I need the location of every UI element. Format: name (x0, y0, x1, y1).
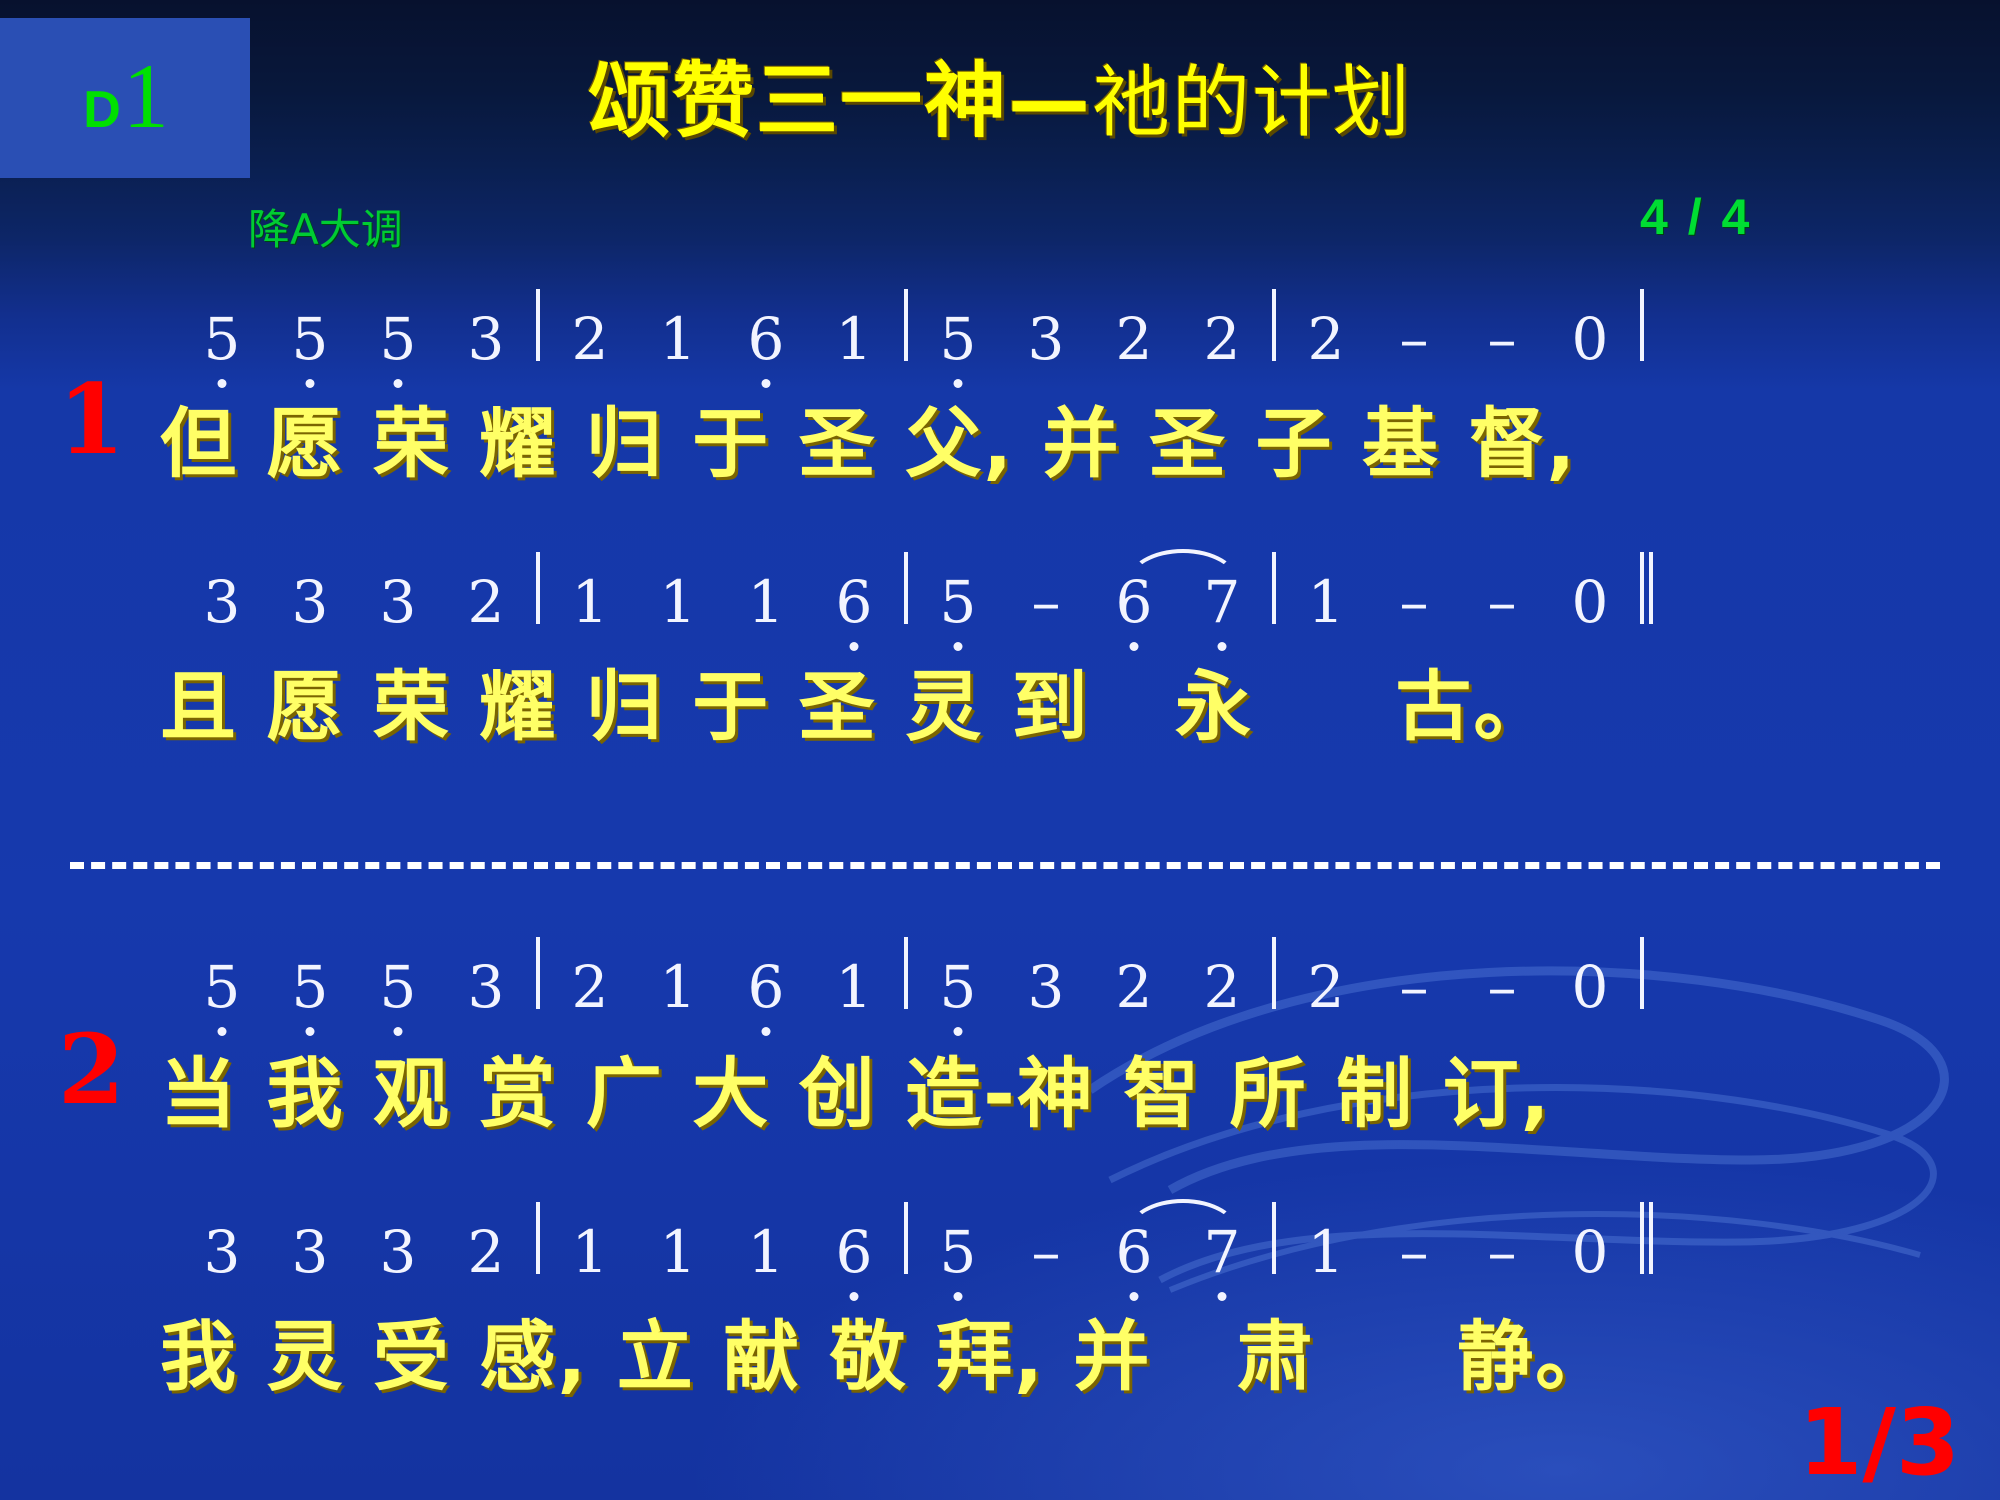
measure: 5322 (914, 310, 1266, 368)
notation-row: 333211165–671––0 (0, 545, 2000, 631)
note: 1 (546, 1223, 634, 1281)
barline (536, 289, 540, 361)
note: 3 (354, 573, 442, 631)
verse-2-lyric-1: 当 我 观 赏 广 大 创 造-神 智 所 制 订, (0, 1032, 2000, 1142)
final-barline (1640, 552, 1656, 624)
note: 6 (722, 958, 810, 1016)
note: 5 (914, 1223, 1002, 1281)
verse-2-lyric-2: 我 灵 受 感, 立 献 敬 拜, 并 肃 静。 (0, 1295, 2000, 1405)
note: 0 (1546, 958, 1634, 1016)
title-subtitle: 祂的计划 (1092, 58, 1412, 148)
slur-arc (1127, 549, 1239, 589)
note: 3 (442, 958, 530, 1016)
note: 5 (354, 958, 442, 1016)
notation-row: 5553216153222––0 (0, 930, 2000, 1016)
barline (1272, 1202, 1276, 1274)
note: 2 (1282, 310, 1370, 368)
measure: 3332 (178, 573, 530, 631)
note: 2 (1178, 310, 1266, 368)
note: – (1458, 958, 1546, 1016)
note: 3 (178, 573, 266, 631)
note: 5 (178, 958, 266, 1016)
verse-1-lyric-1: 但 愿 荣 耀 归 于 圣 父, 并 圣 子 基 督, (0, 382, 2000, 492)
note: 2 (546, 958, 634, 1016)
note: – (1002, 1223, 1090, 1281)
measure: 2161 (546, 310, 898, 368)
note: 2 (1090, 310, 1178, 368)
note: 6 (810, 573, 898, 631)
note: – (1370, 958, 1458, 1016)
barline (536, 937, 540, 1009)
measure: 2161 (546, 958, 898, 1016)
measure: 5553 (178, 310, 530, 368)
barline (536, 552, 540, 624)
note: – (1458, 573, 1546, 631)
note: – (1002, 573, 1090, 631)
verse-2-line-1: 5553216153222––0 (0, 930, 2000, 1016)
note: 1 (810, 310, 898, 368)
note: 1 (634, 1223, 722, 1281)
slide-canvas: D 1 颂赞三一神—祂的计划 降A大调 4 / 4 5553216153222–… (0, 0, 2000, 1500)
note: 5 (914, 310, 1002, 368)
time-signature: 4 / 4 (1640, 188, 1752, 246)
note: 1 (634, 573, 722, 631)
note: 3 (442, 310, 530, 368)
note: 5 (914, 573, 1002, 631)
slur-arc (1127, 1199, 1239, 1239)
barline (1272, 289, 1276, 361)
barline (1640, 937, 1644, 1009)
verse-1-line-2: 333211165–671––0 (0, 545, 2000, 631)
barline (904, 289, 908, 361)
notation-row: 333211165–671––0 (0, 1195, 2000, 1281)
note: 3 (266, 1223, 354, 1281)
measure: 1––0 (1282, 573, 1634, 631)
note: 1 (634, 310, 722, 368)
note: 5 (178, 310, 266, 368)
note: 0 (1546, 310, 1634, 368)
note: – (1458, 310, 1546, 368)
barline (904, 937, 908, 1009)
barline (904, 1202, 908, 1274)
measure: 2––0 (1282, 310, 1634, 368)
note: 0 (1546, 1223, 1634, 1281)
note: 5 (266, 310, 354, 368)
note: 2 (1090, 958, 1178, 1016)
note: 2 (1282, 958, 1370, 1016)
verse-separator (70, 862, 1940, 869)
page-number: 1/3 (1798, 1389, 1960, 1496)
page-title: 颂赞三一神—祂的计划 (0, 34, 2000, 153)
note: 3 (266, 573, 354, 631)
note: 1 (722, 573, 810, 631)
note: 2 (546, 310, 634, 368)
note: 6 (810, 1223, 898, 1281)
note: – (1370, 1223, 1458, 1281)
note: – (1458, 1223, 1546, 1281)
title-main: 颂赞三一神 (588, 54, 1008, 149)
note: – (1370, 310, 1458, 368)
measure: 1––0 (1282, 1223, 1634, 1281)
final-barline (1640, 1202, 1656, 1274)
measure: 5–67 (914, 1223, 1266, 1281)
measure: 5322 (914, 958, 1266, 1016)
barline (1272, 937, 1276, 1009)
note: 1 (722, 1223, 810, 1281)
note: 2 (442, 573, 530, 631)
note: 1 (634, 958, 722, 1016)
measure: 1116 (546, 573, 898, 631)
measure: 5553 (178, 958, 530, 1016)
title-dash: — (1008, 54, 1092, 149)
notation-row: 5553216153222––0 (0, 282, 2000, 368)
note: 3 (1002, 958, 1090, 1016)
note: 5 (354, 310, 442, 368)
measure: 2––0 (1282, 958, 1634, 1016)
note: 2 (1178, 958, 1266, 1016)
note: 1 (1282, 573, 1370, 631)
note: – (1370, 573, 1458, 631)
barline (1640, 289, 1644, 361)
note: 2 (442, 1223, 530, 1281)
barline (536, 1202, 540, 1274)
note: 1 (810, 958, 898, 1016)
note: 0 (1546, 573, 1634, 631)
note: 1 (1282, 1223, 1370, 1281)
note: 1 (546, 573, 634, 631)
note: 3 (1002, 310, 1090, 368)
measure: 5–67 (914, 573, 1266, 631)
barline (1272, 552, 1276, 624)
verse-1-lyric-2: 且 愿 荣 耀 归 于 圣 灵 到 永 古。 (0, 645, 2000, 755)
key-signature: 降A大调 (248, 196, 403, 257)
verse-2-line-2: 333211165–671––0 (0, 1195, 2000, 1281)
note: 5 (266, 958, 354, 1016)
note: 3 (354, 1223, 442, 1281)
barline (904, 552, 908, 624)
note: 6 (722, 310, 810, 368)
verse-1-line-1: 5553216153222––0 (0, 282, 2000, 368)
note: 5 (914, 958, 1002, 1016)
measure: 1116 (546, 1223, 898, 1281)
note: 3 (178, 1223, 266, 1281)
measure: 3332 (178, 1223, 530, 1281)
